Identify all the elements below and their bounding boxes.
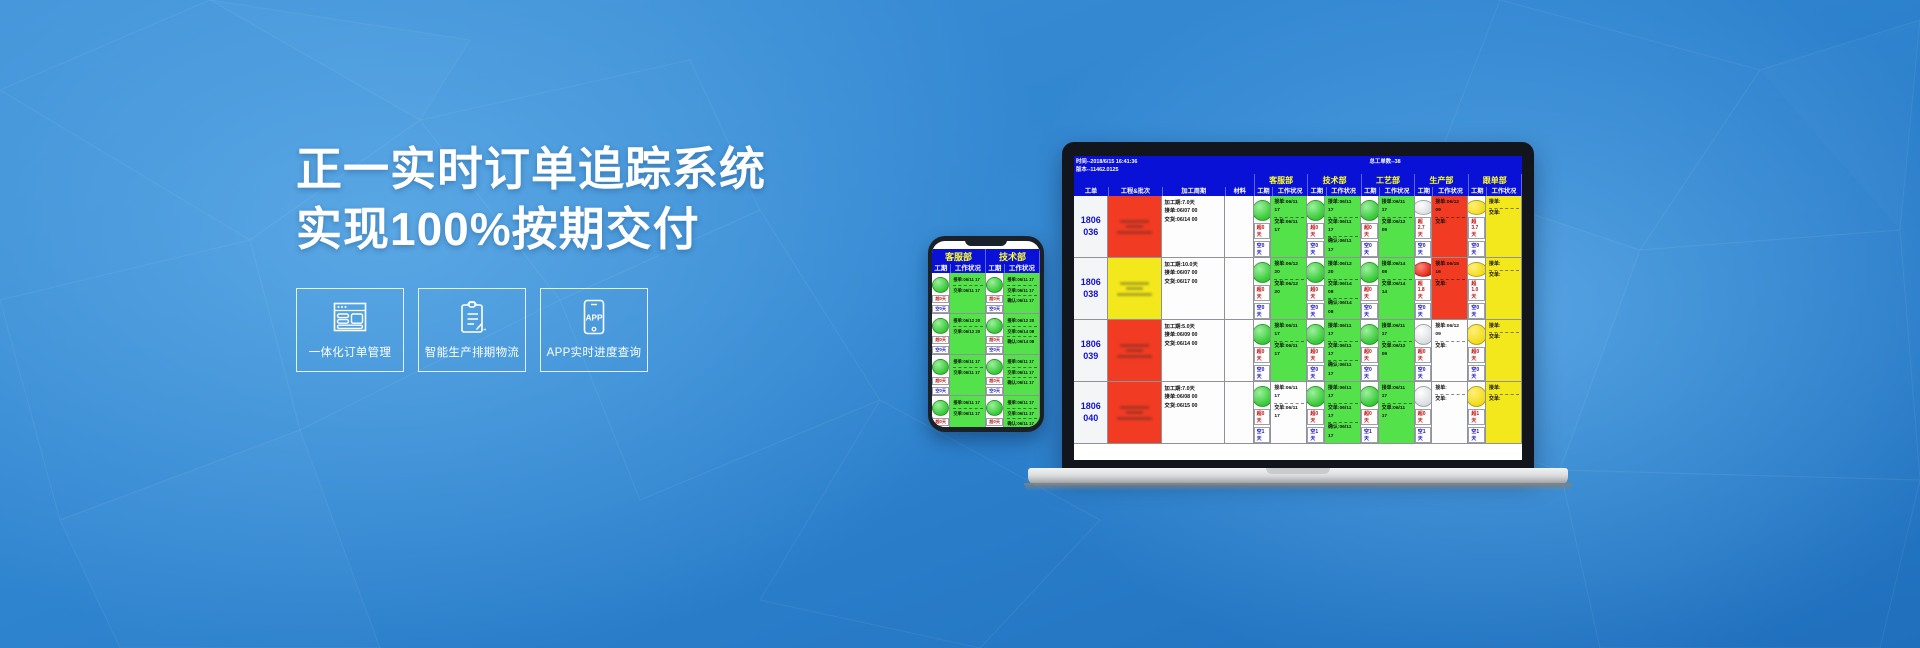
status-indicator-dot (1415, 324, 1433, 345)
idle-tag: 空0天 (986, 346, 1003, 354)
column-header-duration[interactable]: 工期 (1415, 187, 1433, 196)
banner-stage: 正一实时订单追踪系统 实现100%按期交付 一体化订单管理 (0, 0, 1920, 648)
idle-tag: 空0天 (1415, 241, 1432, 257)
idle-tag: 空0天 (1254, 241, 1271, 257)
overdue-tag: 超0天 (986, 295, 1003, 303)
phone-table-row[interactable]: 超0天空0天接单:06/12 20交单:06/12 20超0天空0天接单:06/… (932, 314, 1040, 355)
cell-material[interactable] (1225, 320, 1253, 381)
cell-work-status[interactable]: 接单:06/14 08交单:06/14 14 (1379, 258, 1415, 319)
page-title: 正一实时订单追踪系统 实现100%按期交付 (296, 140, 936, 260)
overdue-tag: 超0天 (986, 377, 1003, 385)
overdue-tag: 超1.8天 (1415, 279, 1432, 301)
idle-tag: 空0天 (1254, 365, 1271, 381)
status-indicator-dot (1361, 200, 1379, 221)
status-indicator-dot (932, 318, 949, 334)
overdue-tag: 超0天 (986, 418, 1003, 426)
cell-duration[interactable]: 超1.0天空0天 (1468, 258, 1486, 319)
overdue-tag: 超0天 (1307, 223, 1324, 239)
phone-mockup: 客服部技术部工期工作状况工期工作状况超0天空0天接单:06/11 17交单:06… (928, 236, 1044, 432)
department-header: 客服部 (1255, 174, 1308, 187)
idle-tag: 空0天 (1361, 365, 1378, 381)
department-header: 生产部 (1415, 174, 1468, 187)
status-indicator-dot (986, 277, 1003, 293)
cell-duration[interactable]: 超0天空0天 (1361, 258, 1379, 319)
idle-tag: 空1天 (1361, 427, 1378, 443)
column-header-status[interactable]: 工作状况 (1487, 187, 1522, 196)
mobile-app-icon: APP (581, 297, 607, 337)
phone-cell-work-status[interactable]: 接单:06/11 17交单:06/11 17确认:06/11 17 (1004, 273, 1040, 313)
cell-order-number[interactable]: 1806040 (1074, 382, 1108, 443)
feature-label: 一体化订单管理 (309, 344, 392, 360)
overdue-tag: 超0天 (1361, 223, 1378, 239)
cell-duration[interactable]: 超3.7天空0天 (1468, 196, 1486, 257)
cell-work-status[interactable]: 接单:06/11 17交单:06/12 09 (1379, 320, 1415, 381)
idle-tag: 空0天 (1468, 303, 1485, 319)
cell-work-status[interactable]: 接单:06/11 17交单:06/11 17 (1271, 196, 1307, 257)
idle-tag: 空0天 (932, 387, 949, 395)
department-header: 技术部 (1308, 174, 1361, 187)
overdue-tag: 超2.7天 (1415, 217, 1432, 239)
table-row[interactable]: 1806038加工期:10.0天接单:06/07 00交货:06/17 00超0… (1074, 258, 1522, 320)
cell-work-status[interactable]: 接单:06/11 17交单:06/11 17确认:06/11 17 (1325, 196, 1361, 257)
status-indicator-dot (1468, 200, 1486, 215)
status-indicator-dot (1254, 324, 1272, 345)
cell-duration[interactable]: 超0天空0天 (1361, 320, 1379, 381)
overdue-tag: 超0天 (932, 377, 949, 385)
cell-duration[interactable]: 超0天空1天 (1361, 382, 1379, 443)
idle-tag: 空0天 (1415, 303, 1432, 319)
column-header-duration[interactable]: 工期 (1255, 187, 1273, 196)
app-badge-text: APP (586, 314, 603, 323)
meta-total-orders: 总工单数--38 (1248, 156, 1522, 174)
cell-duration[interactable]: 超0天空0天 (1468, 320, 1486, 381)
column-header-status[interactable]: 工作状况 (1380, 187, 1415, 196)
cell-material[interactable] (1225, 196, 1253, 257)
phone-body: 客服部技术部工期工作状况工期工作状况超0天空0天接单:06/11 17交单:06… (928, 236, 1044, 432)
idle-tag: 空1天 (1307, 427, 1324, 443)
cell-processing-cycle[interactable]: 加工期:7.0天接单:06/07 00交货:06/14 00 (1162, 196, 1226, 257)
department-header: 工艺部 (1362, 174, 1415, 187)
phone-cell-duration[interactable]: 超0天空0天 (986, 314, 1004, 354)
table-row[interactable]: 1806040加工期:7.0天接单:06/08 00交货:06/15 00超0天… (1074, 382, 1522, 444)
idle-tag: 空1天 (1468, 427, 1485, 443)
overdue-tag: 超0天 (1307, 285, 1324, 301)
overdue-tag: 超0天 (1415, 409, 1432, 425)
overdue-tag: 超0天 (932, 418, 949, 426)
dashboard-icon (333, 297, 367, 337)
phone-cell-duration[interactable]: 超0天空0天 (932, 355, 950, 395)
column-header-duration[interactable]: 工期 (1362, 187, 1380, 196)
status-indicator-dot (986, 318, 1003, 334)
cell-duration[interactable]: 超0天空0天 (1307, 258, 1325, 319)
phone-cell-work-status[interactable]: 接单:06/11 17交单:06/11 17确认:06/11 17 (1004, 396, 1040, 427)
phone-dashboard[interactable]: 客服部技术部工期工作状况工期工作状况超0天空0天接单:06/11 17交单:06… (932, 241, 1040, 427)
status-indicator-dot (932, 277, 949, 293)
laptop-base-shadow (1024, 483, 1572, 491)
column-header-status[interactable]: 工作状况 (1273, 187, 1308, 196)
status-indicator-dot (1307, 262, 1325, 283)
phone-column-header-status[interactable]: 工作状况 (951, 264, 986, 273)
overdue-tag: 超0天 (1468, 347, 1485, 363)
status-indicator-dot (1307, 324, 1325, 345)
cell-project-batch[interactable] (1108, 196, 1161, 257)
cell-duration[interactable]: 超0天空0天 (1307, 196, 1325, 257)
phone-column-header-row: 工期工作状况工期工作状况 (932, 264, 1040, 273)
status-indicator-dot (986, 359, 1003, 375)
cell-work-status[interactable]: 接单:06/12 09交单: (1432, 196, 1468, 257)
status-indicator-dot (1254, 262, 1272, 283)
overdue-tag: 超0天 (986, 336, 1003, 344)
phone-table-row[interactable]: 超0天空0天接单:06/11 17交单:06/11 17超0天空0天接单:06/… (932, 273, 1040, 314)
idle-tag: 空0天 (932, 305, 949, 313)
column-header-row: 工单工程&批次加工周期材料工期工作状况工期工作状况工期工作状况工期工作状况工期工… (1074, 187, 1522, 196)
dashboard-meta-row: 时间--2018/6/15 16:41:36版本--11462.0125总工单数… (1074, 156, 1522, 174)
cell-order-number[interactable]: 1806036 (1074, 196, 1108, 257)
cell-material[interactable] (1225, 258, 1253, 319)
status-indicator-dot (1415, 262, 1433, 277)
column-header[interactable]: 工程&批次 (1109, 187, 1163, 196)
overdue-tag: 超1.0天 (1468, 279, 1485, 301)
idle-tag: 空0天 (1307, 365, 1324, 381)
cell-work-status[interactable]: 接单:06/11 17交单:06/11 17 (1379, 382, 1415, 443)
cell-work-status[interactable]: 接单:06/11 17交单:06/11 17确认:06/11 17 (1325, 382, 1361, 443)
status-indicator-dot (1468, 386, 1486, 407)
column-header[interactable]: 加工周期 (1163, 187, 1226, 196)
cell-work-status[interactable]: 接单:06/12 20交单:06/14 08确认:06/14 08 (1325, 258, 1361, 319)
idle-tag: 空0天 (1307, 303, 1324, 319)
phone-table-row[interactable]: 超0天空0天接单:06/11 17交单:06/11 17超0天空0天接单:06/… (932, 355, 1040, 396)
cell-duration[interactable]: 超0天空0天 (1254, 196, 1272, 257)
headline-line-2: 实现100%按期交付 (296, 200, 936, 260)
overdue-tag: 超0天 (1361, 409, 1378, 425)
column-header-duration[interactable]: 工期 (1469, 187, 1487, 196)
phone-cell-work-status[interactable]: 接单:06/11 17交单:06/11 17 (950, 396, 986, 427)
overdue-tag: 超0天 (1361, 347, 1378, 363)
phone-column-header-duration[interactable]: 工期 (986, 264, 1005, 273)
overdue-tag: 超0天 (1307, 409, 1324, 425)
cell-work-status[interactable]: 接单:交单: (1486, 196, 1522, 257)
laptop-mockup: 时间--2018/6/15 16:41:36版本--11462.0125总工单数… (1062, 142, 1602, 490)
phone-column-header-duration[interactable]: 工期 (932, 264, 951, 273)
cell-processing-cycle[interactable]: 加工期:5.0天接单:06/09 00交货:06/14 00 (1162, 320, 1226, 381)
overdue-tag: 超0天 (1415, 347, 1432, 363)
column-header-duration[interactable]: 工期 (1308, 187, 1326, 196)
phone-cell-work-status[interactable]: 接单:06/12 20交单:06/12 20 (950, 314, 986, 354)
status-indicator-dot (1254, 386, 1272, 407)
clipboard-edit-icon (457, 297, 487, 337)
cell-duration[interactable]: 超2.7天空0天 (1415, 196, 1433, 257)
cell-order-number[interactable]: 1806038 (1074, 258, 1108, 319)
laptop-screen[interactable]: 时间--2018/6/15 16:41:36版本--11462.0125总工单数… (1074, 156, 1522, 460)
cell-work-status[interactable]: 接单:06/15 16交单: (1432, 258, 1468, 319)
feature-label: APP实时进度查询 (547, 344, 642, 360)
cell-duration[interactable]: 超0天空1天 (1254, 382, 1272, 443)
phone-screen[interactable]: 客服部技术部工期工作状况工期工作状况超0天空0天接单:06/11 17交单:06… (932, 241, 1040, 427)
feature-list: 一体化订单管理 智能生产排期物流 (296, 288, 936, 372)
cell-duration[interactable]: 超1.8天空0天 (1415, 258, 1433, 319)
idle-tag: 空0天 (1361, 303, 1378, 319)
phone-notch (965, 239, 1007, 246)
status-indicator-dot (1415, 200, 1433, 215)
overdue-tag: 超0天 (1254, 409, 1271, 425)
phone-cell-duration[interactable]: 超0天空0天 (986, 273, 1004, 313)
cell-work-status[interactable]: 接单:06/11 17交单:06/11 17 (1271, 382, 1307, 443)
overdue-tag: 超0天 (932, 295, 949, 303)
phone-cell-duration[interactable]: 超0天空0天 (986, 396, 1004, 427)
cell-duration[interactable]: 超1天空1天 (1468, 382, 1486, 443)
laptop-lid: 时间--2018/6/15 16:41:36版本--11462.0125总工单数… (1062, 142, 1534, 472)
cell-duration[interactable]: 超0天空1天 (1307, 382, 1325, 443)
column-header[interactable]: 材料 (1226, 187, 1255, 196)
status-indicator-dot (1361, 324, 1379, 345)
department-header: 跟单部 (1469, 174, 1522, 187)
cell-duration[interactable]: 超0天空1天 (1415, 382, 1433, 443)
cell-work-status[interactable]: 接单:交单: (1432, 382, 1468, 443)
status-indicator-dot (1307, 200, 1325, 221)
cell-processing-cycle[interactable]: 加工期:7.0天接单:06/08 00交货:06/15 00 (1162, 382, 1226, 443)
idle-tag: 空0天 (1361, 241, 1378, 257)
phone-cell-work-status[interactable]: 接单:06/12 20交单:06/14 08确认:06/14 08 (1004, 314, 1040, 354)
cell-work-status[interactable]: 接单:06/11 17交单:06/12 09 (1379, 196, 1415, 257)
cell-work-status[interactable]: 接单:06/12 09交单: (1432, 320, 1468, 381)
cell-project-batch[interactable] (1108, 382, 1161, 443)
status-indicator-dot (932, 400, 949, 416)
idle-tag: 空0天 (986, 305, 1003, 313)
status-indicator-dot (1307, 386, 1325, 407)
status-indicator-dot (1468, 262, 1486, 277)
column-header-status[interactable]: 工作状况 (1327, 187, 1362, 196)
idle-tag: 空0天 (932, 346, 949, 354)
phone-cell-work-status[interactable]: 接单:06/11 17交单:06/11 17 (950, 273, 986, 313)
cell-duration[interactable]: 超0天空0天 (1254, 320, 1272, 381)
idle-tag: 空1天 (1415, 427, 1432, 443)
cell-order-number[interactable]: 1806039 (1074, 320, 1108, 381)
table-row[interactable]: 1806039加工期:5.0天接单:06/09 00交货:06/14 00超0天… (1074, 320, 1522, 382)
cell-duration[interactable]: 超0天空0天 (1361, 196, 1379, 257)
status-indicator-dot (1361, 386, 1379, 407)
cell-work-status[interactable]: 接单:06/11 17交单:06/11 17确认:06/11 17 (1325, 320, 1361, 381)
cell-work-status[interactable]: 接单:交单: (1486, 320, 1522, 381)
status-indicator-dot (1468, 324, 1486, 345)
feature-card-app-progress-query[interactable]: APP APP实时进度查询 (540, 288, 648, 372)
cell-project-batch[interactable] (1108, 320, 1161, 381)
department-header-row: 客服部技术部工艺部生产部跟单部 (1074, 174, 1522, 187)
overdue-tag: 超0天 (1254, 285, 1271, 301)
cell-processing-cycle[interactable]: 加工期:10.0天接单:06/07 00交货:06/17 00 (1162, 258, 1226, 319)
table-row[interactable]: 1806036加工期:7.0天接单:06/07 00交货:06/14 00超0天… (1074, 196, 1522, 258)
cell-work-status[interactable]: 接单:06/11 17交单:06/11 17 (1271, 320, 1307, 381)
status-indicator-dot (932, 359, 949, 375)
idle-tag: 空0天 (986, 387, 1003, 395)
cell-duration[interactable]: 超0天空0天 (1254, 258, 1272, 319)
order-tracking-dashboard[interactable]: 时间--2018/6/15 16:41:36版本--11462.0125总工单数… (1074, 156, 1522, 444)
column-header[interactable]: 工单 (1074, 187, 1109, 196)
phone-cell-duration[interactable]: 超0天空0天 (932, 396, 950, 427)
overdue-tag: 超0天 (1254, 223, 1271, 239)
meta-time: 时间--2018/6/15 16:41:36版本--11462.0125 (1074, 156, 1248, 174)
column-header-status[interactable]: 工作状况 (1433, 187, 1468, 196)
cell-work-status[interactable]: 接单:交单: (1486, 258, 1522, 319)
status-indicator-dot (1254, 200, 1272, 221)
hero-copy: 正一实时订单追踪系统 实现100%按期交付 一体化订单管理 (296, 140, 936, 372)
phone-cell-work-status[interactable]: 接单:06/11 17交单:06/11 17确认:06/11 17 (1004, 355, 1040, 395)
overdue-tag: 超0天 (932, 336, 949, 344)
overdue-tag: 超3.7天 (1468, 217, 1485, 239)
overdue-tag: 超0天 (1307, 347, 1324, 363)
feature-card-order-management[interactable]: 一体化订单管理 (296, 288, 404, 372)
idle-tag: 空0天 (1415, 365, 1432, 381)
cell-work-status[interactable]: 接单:交单: (1486, 382, 1522, 443)
phone-cell-duration[interactable]: 超0天空0天 (932, 273, 950, 313)
idle-tag: 空0天 (1307, 241, 1324, 257)
status-indicator-dot (1415, 386, 1433, 407)
phone-column-header-status[interactable]: 工作状况 (1005, 264, 1040, 273)
cell-duration[interactable]: 超0天空0天 (1415, 320, 1433, 381)
idle-tag: 空0天 (1468, 241, 1485, 257)
feature-label: 智能生产排期物流 (425, 344, 519, 360)
overdue-tag: 超0天 (1254, 347, 1271, 363)
idle-tag: 空0天 (1468, 365, 1485, 381)
cell-work-status[interactable]: 接单:06/12 20交单:06/12 20 (1271, 258, 1307, 319)
phone-cell-duration[interactable]: 超0天空0天 (932, 314, 950, 354)
status-indicator-dot (986, 400, 1003, 416)
cell-material[interactable] (1225, 382, 1253, 443)
idle-tag: 空0天 (1254, 303, 1271, 319)
phone-cell-duration[interactable]: 超0天空0天 (986, 355, 1004, 395)
idle-tag: 空1天 (1254, 427, 1271, 443)
phone-department-header: 技术部 (986, 249, 1040, 264)
phone-table-row[interactable]: 超0天空0天接单:06/11 17交单:06/11 17超0天空0天接单:06/… (932, 396, 1040, 427)
phone-cell-work-status[interactable]: 接单:06/11 17交单:06/11 17 (950, 355, 986, 395)
overdue-tag: 超1天 (1468, 409, 1485, 425)
feature-card-production-scheduling[interactable]: 智能生产排期物流 (418, 288, 526, 372)
overdue-tag: 超0天 (1361, 285, 1378, 301)
status-indicator-dot (1361, 262, 1379, 283)
cell-project-batch[interactable] (1108, 258, 1161, 319)
cell-duration[interactable]: 超0天空0天 (1307, 320, 1325, 381)
phone-department-header: 客服部 (932, 249, 986, 264)
headline-line-1: 正一实时订单追踪系统 (296, 143, 766, 195)
